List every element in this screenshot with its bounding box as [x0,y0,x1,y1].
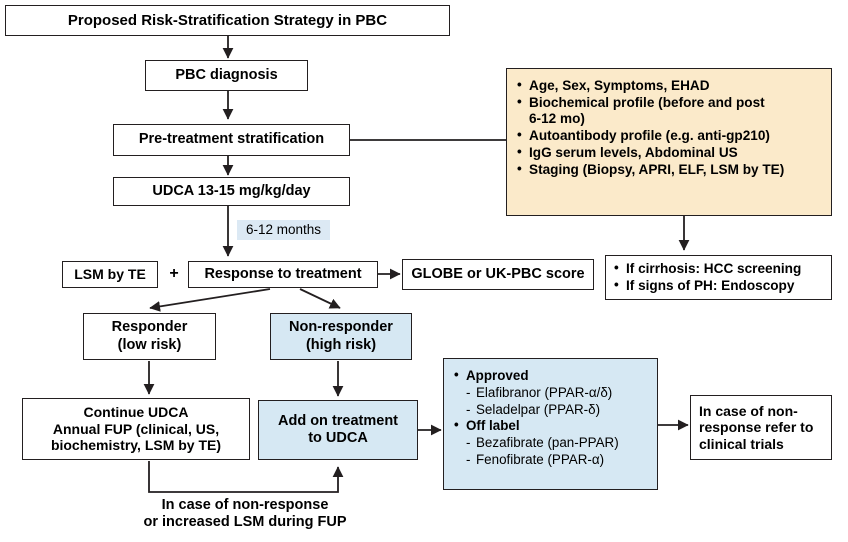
treatment-options-list: Approved Elafibranor (PPAR-α/δ) Seladelp… [454,368,649,468]
pre-treatment-item-2: Biochemical profile (before and post 6-1… [517,95,821,127]
continue-udca-line2: Annual FUP (clinical, US, [53,421,219,438]
continue-udca-line3: biochemistry, LSM by TE) [51,437,221,454]
treatment-group-2-heading: Off label [454,418,649,434]
refer-trials-line3: clinical trials [699,436,784,453]
node-udca-dose: UDCA 13-15 mg/kg/day [113,177,350,206]
node-non-responder: Non-responder (high risk) [270,313,412,360]
treatment-options-panel: Approved Elafibranor (PPAR-α/δ) Seladelp… [443,358,658,490]
treatment-group-2-drug-1: Bezafibrate (pan-PPAR) [454,435,649,451]
node-pbc-diagnosis: PBC diagnosis [145,60,308,91]
title-label: Proposed Risk-Stratification Strategy in… [68,12,387,30]
treatment-group-1-drug-1: Elafibranor (PPAR-α/δ) [454,385,649,401]
pre-treatment-item-2-line1: Biochemical profile (before and post [529,95,765,110]
title-box: Proposed Risk-Stratification Strategy in… [5,5,450,36]
pre-treatment-item-5: Staging (Biopsy, APRI, ELF, LSM by TE) [517,162,821,178]
treatment-group-1-heading: Approved [454,368,649,384]
lsm-by-te-label: LSM by TE [74,266,146,283]
node-pre-treatment-stratification: Pre-treatment stratification [113,124,350,156]
surveillance-panel: If cirrhosis: HCC screening If signs of … [605,255,832,300]
node-refer-clinical-trials: In case of non- response refer to clinic… [690,395,832,460]
feedback-note: In case of non-response or increased LSM… [80,497,410,532]
plus-sign: + [162,264,186,283]
pre-treatment-details-list: Age, Sex, Symptoms, EHAD Biochemical pro… [517,78,821,178]
surveillance-list: If cirrhosis: HCC screening If signs of … [614,261,823,294]
interval-chip: 6-12 months [237,220,330,240]
pre-treatment-label: Pre-treatment stratification [139,131,324,148]
surveillance-item-2: If signs of PH: Endoscopy [614,278,823,294]
node-lsm-by-te: LSM by TE [62,261,158,288]
responder-line1: Responder [112,319,188,336]
non-responder-line1: Non-responder [289,319,393,336]
refer-trials-line1: In case of non- [699,403,798,420]
feedback-note-line1: In case of non-response [80,497,410,514]
globe-score-label: GLOBE or UK-PBC score [411,266,584,283]
udca-dose-label: UDCA 13-15 mg/kg/day [152,183,310,200]
node-continue-udca: Continue UDCA Annual FUP (clinical, US, … [22,398,250,460]
plus-sign-label: + [169,265,178,282]
pre-treatment-item-4: IgG serum levels, Abdominal US [517,145,821,161]
treatment-group-1-drug-2: Seladelpar (PPAR-δ) [454,402,649,418]
refer-trials-line2: response refer to [699,419,813,436]
continue-udca-line1: Continue UDCA [84,404,189,421]
responder-line2: (low risk) [118,337,182,354]
pre-treatment-item-1: Age, Sex, Symptoms, EHAD [517,78,821,94]
pre-treatment-details-panel: Age, Sex, Symptoms, EHAD Biochemical pro… [506,68,832,216]
add-on-line2: to UDCA [308,430,368,447]
pbc-diagnosis-label: PBC diagnosis [175,67,277,84]
response-label: Response to treatment [204,266,361,283]
surveillance-item-1: If cirrhosis: HCC screening [614,261,823,277]
interval-chip-label: 6-12 months [246,222,321,237]
flowchart-canvas: Proposed Risk-Stratification Strategy in… [0,0,848,542]
pre-treatment-item-2-line2: 6-12 mo) [529,111,585,126]
pre-treatment-item-3: Autoantibody profile (e.g. anti-gp210) [517,128,821,144]
node-response-to-treatment: Response to treatment [188,261,378,288]
node-add-on-treatment: Add on treatment to UDCA [258,400,418,460]
add-on-line1: Add on treatment [278,413,398,430]
treatment-group-2-drug-2: Fenofibrate (PPAR-α) [454,452,649,468]
non-responder-line2: (high risk) [306,337,376,354]
feedback-note-line2: or increased LSM during FUP [80,514,410,531]
node-responder: Responder (low risk) [83,313,216,360]
node-globe-score: GLOBE or UK-PBC score [402,259,594,290]
